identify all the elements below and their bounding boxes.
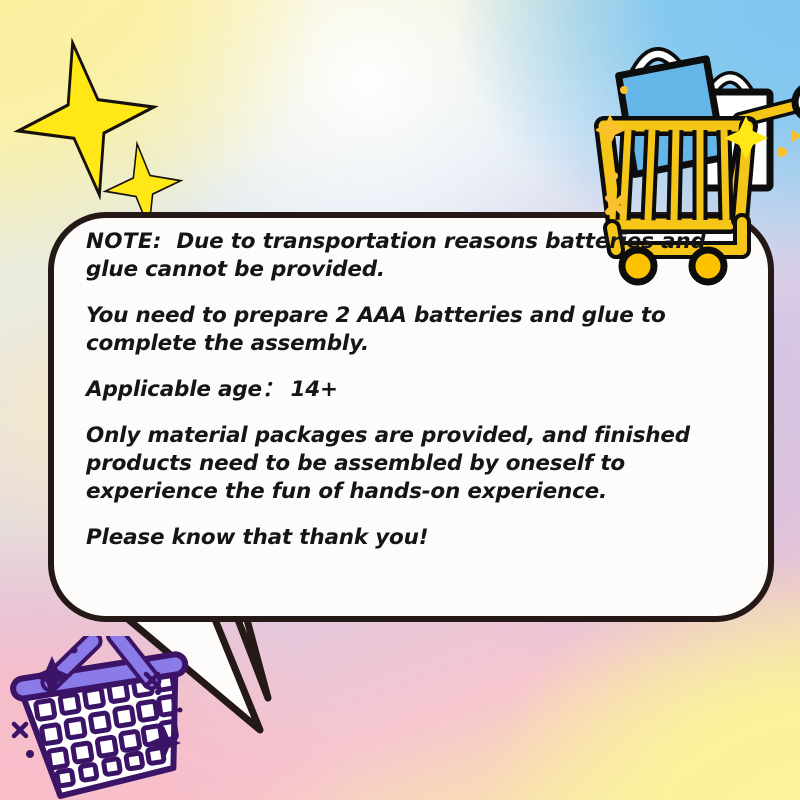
note-paragraph-3-applicable-age: Applicable age： 14+ (86, 376, 746, 404)
promo-note-graphic: NOTE: Due to transportation reasons batt… (0, 0, 800, 800)
note-paragraph-1: NOTE: Due to transportation reasons batt… (86, 228, 746, 284)
note-paragraph-2: You need to prepare 2 AAA batteries and … (86, 302, 746, 358)
note-text-block: NOTE: Due to transportation reasons batt… (86, 228, 746, 552)
note-paragraph-5-thank-you: Please know that thank you! (86, 524, 746, 552)
note-label: NOTE: (86, 229, 162, 254)
note-paragraph-1-text: Due to transportation reasons batteries … (86, 229, 706, 282)
note-paragraph-4: Only material packages are provided, and… (86, 422, 746, 506)
basket-sparkle-accents (8, 628, 218, 798)
